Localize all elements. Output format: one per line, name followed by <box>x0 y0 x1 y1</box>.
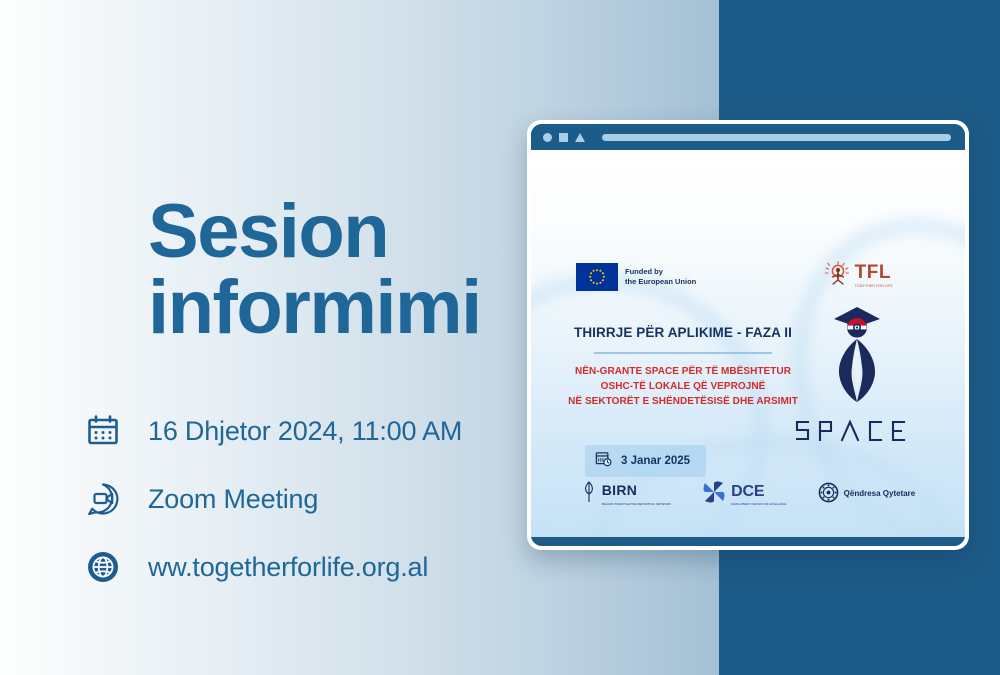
tfl-wordmark: TFL TOGETHER FOR LIFE <box>855 263 893 288</box>
qq-emblem-icon <box>818 482 839 508</box>
tfl-tagline: TOGETHER FOR LIFE <box>855 284 893 288</box>
card-base-strip <box>531 537 965 546</box>
birn-tagline: BALKAN INVESTIGATIVE REPORTING NETWORK <box>602 502 671 506</box>
triangle-icon[interactable] <box>575 133 585 142</box>
left-content-column: Sesion informimi 16 <box>0 0 520 675</box>
square-icon[interactable] <box>559 133 568 142</box>
partner-logos: BIRN BALKAN INVESTIGATIVE REPORTING NETW… <box>531 480 965 509</box>
eu-flag-icon <box>576 263 618 291</box>
address-bar[interactable] <box>602 134 951 141</box>
space-logo <box>787 303 927 444</box>
info-row-date: 16 Dhjetor 2024, 11:00 AM <box>82 408 462 454</box>
qq-name: Qëndresa Qytetare <box>844 489 916 500</box>
calendar-clock-icon <box>595 450 612 472</box>
info-website-text[interactable]: ww.togetherforlife.org.al <box>148 552 428 583</box>
birn-mark-icon <box>581 481 597 508</box>
dce-name: DCE <box>731 483 764 500</box>
dce-tagline: DEVELOPMENT CENTER FOR EXCELLENCE <box>731 503 786 507</box>
eu-line-1: Funded by <box>625 267 663 276</box>
page-title: Sesion informimi <box>148 196 528 344</box>
poster-root: Sesion informimi 16 <box>0 0 1000 675</box>
info-date-text: 16 Dhjetor 2024, 11:00 AM <box>148 416 462 447</box>
circle-icon[interactable] <box>543 133 552 142</box>
birn-wordmark: BIRN BALKAN INVESTIGATIVE REPORTING NETW… <box>602 482 671 506</box>
space-wordmark <box>793 418 921 444</box>
info-row-website[interactable]: ww.togetherforlife.org.al <box>82 544 462 590</box>
info-platform-text: Zoom Meeting <box>148 484 318 515</box>
partner-dce: DCE DEVELOPMENT CENTER FOR EXCELLENCE <box>702 480 786 509</box>
partner-qendresa-qytetare: Qëndresa Qytetare <box>818 482 916 508</box>
dce-wordmark: DCE DEVELOPMENT CENTER FOR EXCELLENCE <box>731 483 786 507</box>
headline-divider <box>594 352 772 354</box>
eu-line-2: the European Union <box>625 277 696 286</box>
dce-pinwheel-icon <box>702 480 726 509</box>
browser-window: Funded by the European Union <box>531 124 965 546</box>
poster-subhead: NËN-GRANTE SPACE PËR TË MBËSHTETUR OSHC-… <box>561 364 805 410</box>
eu-funding-logo: Funded by the European Union <box>576 263 696 291</box>
browser-mockup-card: Funded by the European Union <box>527 120 969 550</box>
tfl-logo: TFL TOGETHER FOR LIFE <box>825 260 893 291</box>
tfl-sun-icon <box>825 260 851 291</box>
deadline-date-text: 3 Janar 2025 <box>621 455 690 467</box>
event-info-list: 16 Dhjetor 2024, 11:00 AM Zoom Meeting <box>82 408 462 590</box>
eu-funding-label: Funded by the European Union <box>625 267 696 287</box>
title-line-2: informimi <box>148 272 528 344</box>
calendar-icon <box>82 410 124 452</box>
title-line-1: Sesion <box>148 196 528 268</box>
subhead-line-2: OSHC-TË LOKALE QË VEPROJNË <box>561 379 805 394</box>
deadline-badge: 3 Janar 2025 <box>585 445 706 477</box>
info-row-platform: Zoom Meeting <box>82 476 462 522</box>
tfl-name: TFL <box>855 262 891 283</box>
video-chat-icon <box>82 478 124 520</box>
browser-chrome-bar <box>531 124 965 150</box>
poster-headline-block: THIRRJE PËR APLIKIME - FAZA II NËN-GRANT… <box>561 325 805 409</box>
space-emblem-icon <box>814 303 900 412</box>
subhead-line-1: NËN-GRANTE SPACE PËR TË MBËSHTETUR <box>561 364 805 379</box>
partner-birn: BIRN BALKAN INVESTIGATIVE REPORTING NETW… <box>581 481 671 508</box>
poster-canvas: Funded by the European Union <box>531 153 965 537</box>
globe-icon <box>82 546 124 588</box>
birn-name: BIRN <box>602 482 637 498</box>
poster-headline: THIRRJE PËR APLIKIME - FAZA II <box>561 325 805 341</box>
subhead-line-3: NË SEKTORËT E SHËNDETËSISË DHE ARSIMIT <box>561 394 805 409</box>
